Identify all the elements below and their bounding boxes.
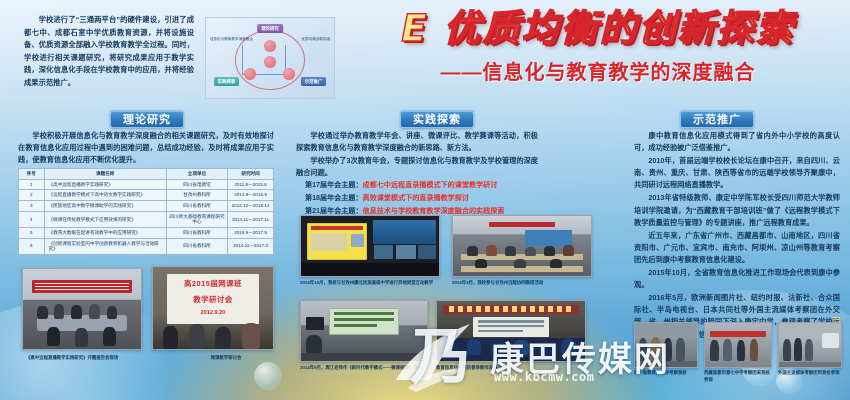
theme-label: 第17届年会主题：	[305, 181, 363, 189]
section-header-theory: 理论研究	[110, 110, 184, 128]
th-unit: 立项单位	[166, 169, 227, 180]
diagram-node	[264, 40, 276, 52]
column-promotion-text: 康中教育信息化应用模式得到了省内外中小学校的高度认可，成功经验被广泛借鉴推广。 …	[634, 130, 840, 342]
photo-scene	[779, 323, 841, 367]
table-cell: 2014.12—2016.12	[228, 201, 274, 212]
promotion-paragraph-2: 2010年，首届远端学校校长论坛在康中召开，来自四川、云南、贵州、重庆、甘肃、陕…	[634, 155, 840, 191]
table-cell: 《民族地区高中数学微课助学的实践研究》	[44, 201, 166, 212]
table-row: 6《创新课程实验室的中学创新教育机器人教学与活动研究》四川省教科所2014.11…	[19, 238, 274, 254]
table-cell: 《高中远程直播教学实践研究》	[44, 179, 166, 190]
table-cell: 2	[19, 190, 45, 201]
poster-title: E 优质均衡的创新探索 ——信息化与教育教学的深度融合	[352, 8, 844, 104]
table-cell: 《教育大数据在促进有效教学中的应用研究》	[44, 227, 166, 238]
watermark-url: www.kbcmw.com	[494, 370, 594, 384]
diagram-label-top: 理论研究	[257, 24, 283, 33]
table-cell: 5	[19, 227, 45, 238]
photo-scene	[453, 216, 591, 276]
column-practice-text: 学校通过举办教育教学年会、讲座、微课评比、教学赛课等活动，积极探索教育信息化与教…	[296, 130, 538, 219]
table-cell: 2016.9—2017.9	[228, 227, 274, 238]
decor-bubble	[254, 362, 282, 390]
table-cell: 四川省电教馆	[166, 179, 227, 190]
photo-scene: 高2015届网课班 教学研讨会 2012.9.20	[153, 267, 273, 349]
table-cell: 甘孜州教科所	[166, 190, 227, 201]
table-row: 4《微课在传统教学模式下应用效果的研究》四川师大基础教育课程研究中心2014.1…	[19, 211, 274, 227]
screen-text-line3: 2012.9.20	[172, 310, 254, 316]
diagram-node	[244, 68, 256, 80]
theme-value: 信息技术与学校教育教学深度融合的实践探索	[363, 207, 505, 215]
table-header-row: 序号 课题名称 立项单位 研究时间	[19, 169, 274, 180]
table-cell: 四川省教科所	[166, 201, 227, 212]
photo-changdu-delegation	[704, 322, 772, 368]
theme-label: 第21届年会主题：	[305, 207, 363, 215]
caption-remote-interactive-class: 2015年10月，我校与甘孜州康北民族高级中学进行异地同堂互动教学	[300, 280, 440, 287]
caption-lecture-microlesson: 2014年9月，周江老师作《新时代教学模式——微课探索》讲座	[300, 365, 428, 372]
photo-foreign-media	[778, 322, 842, 368]
theme-value: 成都七中远程直录播模式下的课堂教学研讨	[363, 181, 498, 189]
table-row: 3《民族地区高中数学微课助学的实践研究》四川省教科所2014.12—2016.1…	[19, 201, 274, 212]
caption-provincial-inspection: 四川省教育厅领导考察我校	[634, 370, 698, 377]
caption-foreign-media: 外国主流媒体考察团到我校参观	[778, 370, 842, 377]
theme-line-17: 第17届年会主题：成都七中远程直录播模式下的课堂教学研讨	[305, 180, 538, 192]
table-cell: 《远程直播教学模式下高中语文教学实践研究》	[44, 190, 166, 201]
th-time: 研究时间	[228, 169, 274, 180]
diagram-label-left: 实践探索	[214, 77, 240, 86]
research-projects-table: 序号 课题名称 立项单位 研究时间 1《高中远程直播教学实践研究》四川省电教馆2…	[18, 168, 274, 255]
photo-remote-interactive-class	[300, 215, 440, 277]
photo-provincial-inspection	[634, 322, 698, 368]
caption-collaborative-research: 2016年3月，我校参与甘孜州远程协同教研活动	[452, 280, 592, 287]
banner	[489, 222, 555, 227]
intro-paragraph: 学校进行了“三通两平台”的硬件建设，引进了成都七中、成都石室中学优质教育资源，并…	[24, 14, 194, 89]
promotion-paragraph-4: 近五年来，广东省广州市、西藏昌都市、山南地区，四川省资阳市、广元市、宜宾市、南充…	[634, 230, 840, 266]
table-cell: 《创新课程实验室的中学创新教育机器人教学与活动研究》	[44, 238, 166, 254]
concept-diagram: 理论研究 实践探索 示范推广 信息化与教育教学深度融合 优质均衡创新探索	[205, 17, 335, 99]
screen-text-line1: 高2015届网课班	[172, 278, 254, 289]
table-cell: 四川师大基础教育课程研究中心	[166, 211, 227, 227]
table-cell: 3	[19, 201, 45, 212]
photo-lecture-microlesson	[300, 300, 428, 362]
photo-online-class-seminar: 高2015届网课班 教学研讨会 2012.9.20	[152, 266, 274, 350]
table-cell: 2014.11—2017.11	[228, 211, 274, 227]
section-header-practice: 实践探索	[400, 110, 474, 128]
title-main: E 优质均衡的创新探索	[352, 8, 844, 51]
promotion-paragraph-5: 2015年10月，全省教育信息化推进工作现场会代表到康中参观。	[634, 267, 840, 291]
photo-opening-ceremony	[22, 268, 142, 350]
th-name: 课题名称	[44, 169, 166, 180]
table-cell: 6	[19, 238, 45, 254]
photo-scene	[301, 301, 427, 361]
theme-value: 高效课堂模式下的直录播教学探讨	[363, 194, 469, 202]
photo-scene	[705, 323, 771, 367]
projection-screen	[525, 230, 572, 246]
table-cell: 《微课在传统教学模式下应用效果的研究》	[44, 211, 166, 227]
theory-paragraph: 学校积极开展信息化与教育教学深度融合的相关课题研究，及时有效地探讨在教育信息化应…	[18, 130, 274, 166]
table-cell: 2011.8—2015.8	[228, 179, 274, 190]
table-row: 2《远程直播教学模式下高中语文教学实践研究》甘孜州教科所2013.9—2016.…	[19, 190, 274, 201]
photo-scene	[635, 323, 697, 367]
diagram-node	[283, 68, 295, 80]
table-row: 5《教育大数据在促进有效教学中的应用研究》四川省教科所2016.9—2017.9	[19, 227, 274, 238]
practice-paragraph-1: 学校通过举办教育教学年会、讲座、微课评比、教学赛课等活动，积极探索教育信息化与教…	[296, 130, 538, 154]
banner	[710, 331, 765, 337]
table-cell: 2014.11—2017.3	[228, 238, 274, 254]
theme-line-18: 第18届年会主题：高效课堂模式下的直录播教学探讨	[305, 193, 538, 205]
caption-online-class-seminar: 网课教学研讨会	[186, 355, 266, 362]
practice-paragraph-2: 学校举办了3次教育年会，专题探讨信息化与教育教学及学校管理的深度融合问题。	[296, 155, 538, 179]
diagram-note-left: 信息化与教育教学深度融合	[210, 37, 253, 42]
theme-label: 第18届年会主题：	[305, 194, 363, 202]
table-row: 1《高中远程直播教学实践研究》四川省电教馆2011.8—2015.8	[19, 179, 274, 190]
diagram-node	[264, 56, 276, 68]
diagram-note-right: 优质均衡创新探索	[301, 37, 330, 42]
th-no: 序号	[19, 169, 45, 180]
poster-board: E 优质均衡的创新探索 ——信息化与教育教学的深度融合 学校进行了“三通两平台”…	[0, 0, 850, 400]
photo-scene	[23, 269, 141, 349]
screen-text-line2: 教学研讨会	[172, 294, 254, 305]
table-cell: 四川省教科所	[166, 227, 227, 238]
table-cell: 4	[19, 211, 45, 227]
caption-opening-ceremony: 《高中远程直播教学实践研究》开题报告会现场	[26, 355, 144, 362]
caption-changdu-delegation: 西藏昌都市第七中学考察团来我校参观	[704, 370, 772, 383]
section-header-promotion: 示范推广	[680, 110, 754, 128]
diagram-label-right: 示范推广	[301, 77, 327, 86]
table-cell: 1	[19, 179, 45, 190]
photo-scene	[301, 216, 439, 276]
promotion-paragraph-1: 康中教育信息化应用模式得到了省内外中小学校的高度认可，成功经验被广泛借鉴推广。	[634, 130, 840, 154]
video-wall	[373, 220, 436, 244]
photo-scene	[437, 301, 585, 361]
photo-teacher-development	[436, 300, 586, 362]
title-subtitle: ——信息化与教育教学的深度融合	[352, 56, 844, 85]
photo-collaborative-research	[452, 215, 592, 277]
table-cell: 2013.9—2016.9	[228, 190, 274, 201]
table-cell: 四川省教科所	[166, 238, 227, 254]
column-theory-text: 学校积极开展信息化与教育教学深度融合的相关课题研究，及时有效地探讨在教育信息化应…	[18, 130, 274, 167]
caption-teacher-development: 教育信息化主题的春季教师发展活动	[436, 365, 586, 372]
promotion-paragraph-3: 2013年省特级教师、康定中学陈军校长受四川师范大学教师培训学院邀请，为“西藏教…	[634, 192, 840, 228]
